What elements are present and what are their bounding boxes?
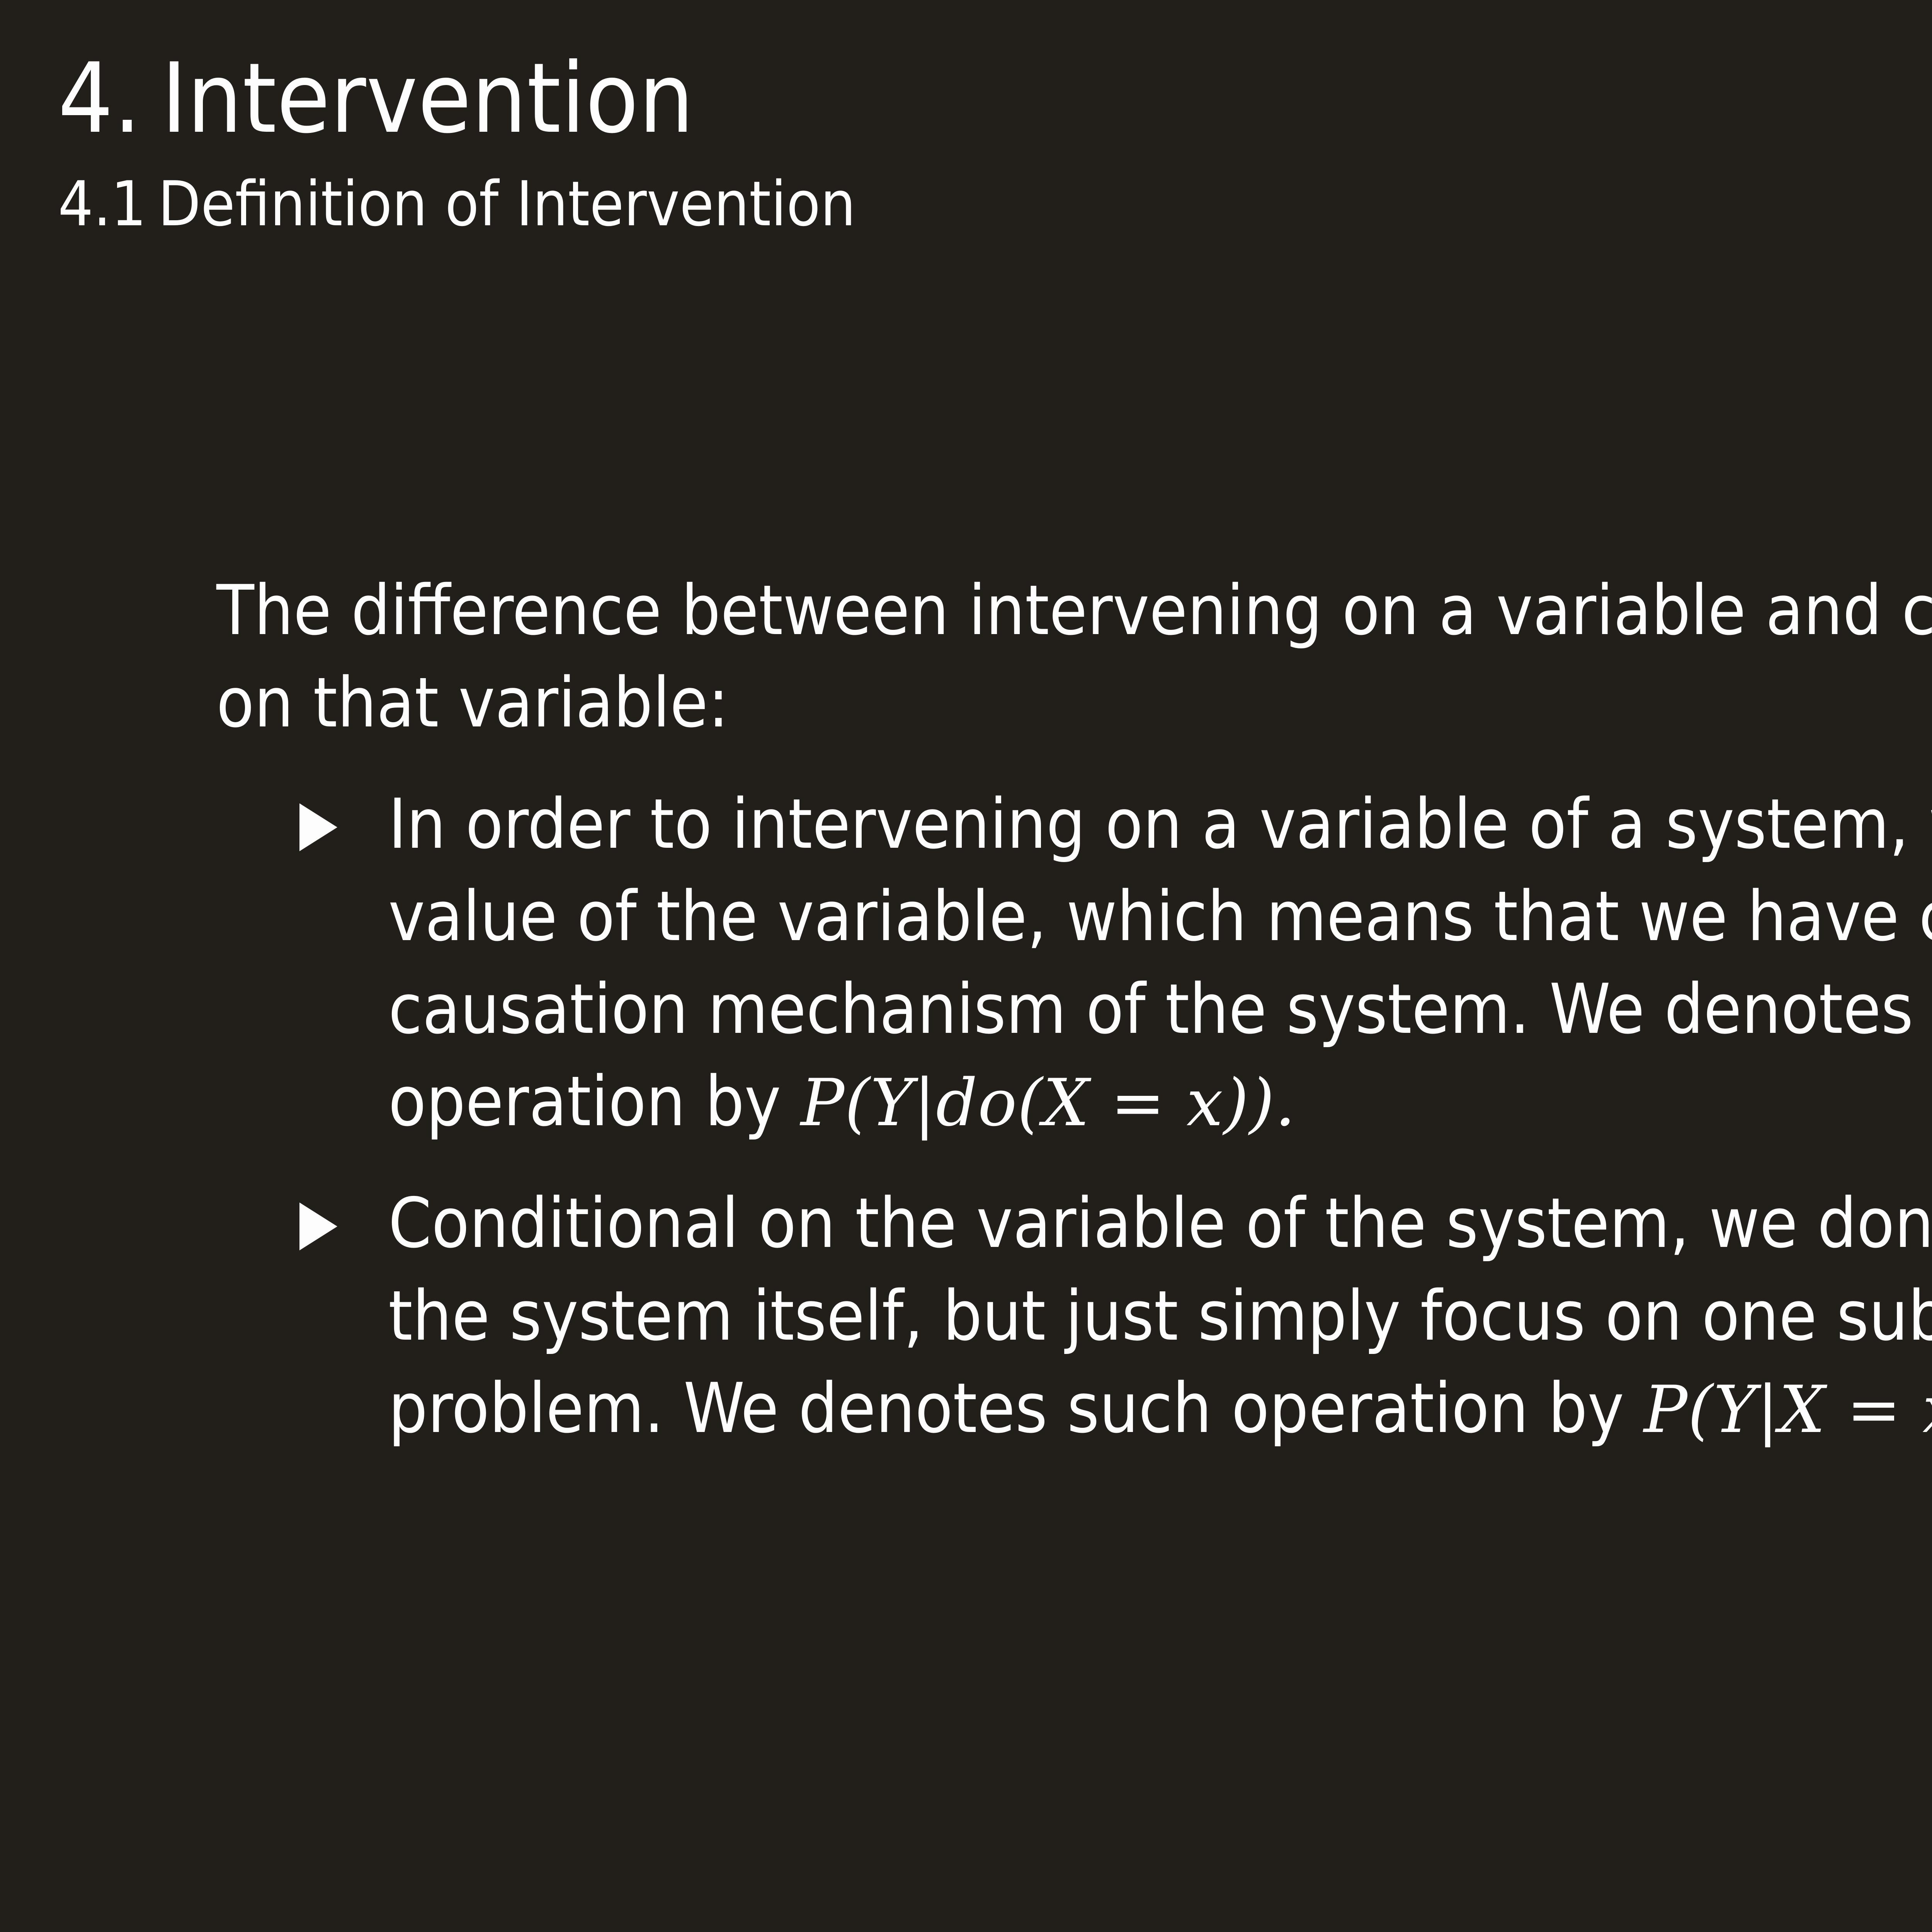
list-item: Conditional on the variable of the syste… [216,1177,1932,1454]
item-line-text: operation by [388,1061,801,1141]
item-line: causation mechanism of the system. We de… [388,963,1932,1055]
section-number: 4. [58,42,141,155]
item-line-with-math: problem. We denotes such operation by P(… [388,1362,1932,1454]
item-line: the system itself, but just simply focus… [388,1270,1932,1362]
item-line: value of the variable, which means that … [388,870,1932,963]
item-line: In order to intervening on a variable of… [388,778,1932,870]
intro-line: on that variable: [216,656,1932,749]
item-line: Conditional on the variable of the syste… [388,1177,1932,1269]
intro-paragraph: The difference between intervening on a … [216,564,1932,749]
item-line-text: problem. We denotes such operation by [388,1368,1644,1448]
subsection-heading: 4.1Definition of Intervention [58,173,1932,235]
slide-body: The difference between intervening on a … [216,564,1932,1455]
triangle-bullet-icon [299,803,337,851]
list-item: In order to intervening on a variable of… [216,778,1932,1148]
section-title: Intervention [161,42,694,155]
subsection-number: 4.1 [58,168,146,240]
math-expression: P(Y|X = x)). [1644,1372,1932,1447]
title-block: 4.Intervention 4.1Definition of Interven… [58,50,1932,235]
triangle-bullet-icon [299,1202,337,1250]
intro-line: The difference between intervening on a … [216,564,1932,656]
subsection-title: Definition of Intervention [158,168,856,240]
item-line-with-math: operation by P(Y|do(X = x)). [388,1055,1932,1148]
math-expression: P(Y|do(X = x)). [801,1065,1296,1141]
bullet-list: In order to intervening on a variable of… [216,778,1932,1455]
page-title: 4.Intervention [58,50,1932,147]
beamer-slide: 4.Intervention 4.1Definition of Interven… [0,0,1932,1932]
